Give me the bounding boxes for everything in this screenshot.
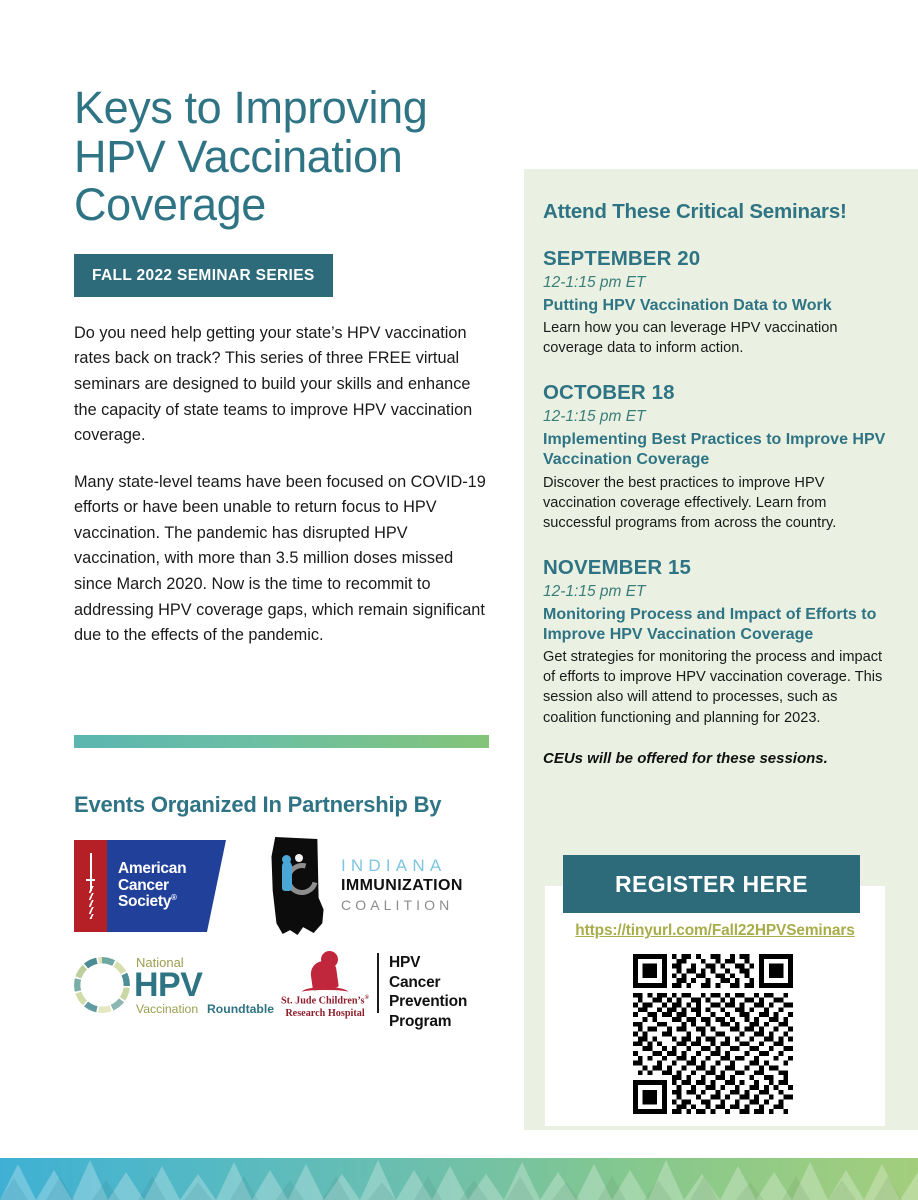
st-jude-line-2: Research Hospital [277,1008,373,1020]
seminar-date: OCTOBER 18 [543,381,889,405]
iic-wordmark: INDIANA IMMUNIZATION COALITION [341,855,463,914]
acs-wordmark: American Cancer Society® [118,861,186,911]
acs-line-3: Society [118,894,171,911]
iic-line-2: IMMUNIZATION [341,876,463,896]
program-line-2: Prevention [389,992,467,1012]
st-jude-registered-mark: ® [365,995,369,1001]
hpvrt-line-3: Vaccination [136,1002,198,1016]
st-jude-wordmark: St. Jude Children’s® Research Hospital [277,995,373,1020]
american-cancer-society-logo: American Cancer Society® [74,840,226,932]
hpv-cancer-prevention-wordmark: HPV Cancer Prevention Program [389,953,467,1031]
iic-line-3: COALITION [341,896,463,914]
seminar-date: NOVEMBER 15 [543,556,889,580]
st-jude-divider [377,953,379,1013]
acs-line-1: American [118,861,186,878]
series-badge: FALL 2022 SEMINAR SERIES [74,254,333,297]
acs-line-2: Cancer [118,878,186,895]
seminar-title: Putting HPV Vaccination Data to Work [543,296,889,316]
seminar-item-october: OCTOBER 18 12-1:15 pm ET Implementing Be… [543,381,889,533]
seminar-description: Get strategies for monitoring the proces… [543,647,889,728]
st-jude-line-1: St. Jude Children’s [281,995,365,1006]
st-jude-child-icon [305,951,345,993]
iic-figure-icon [282,861,292,891]
seminar-time: 12-1:15 pm ET [543,273,889,292]
intro-paragraph-1: Do you need help getting your state’s HP… [74,321,492,449]
flyer-page: Keys to Improving HPV Vaccination Covera… [0,0,918,1200]
iic-figure-head-icon [282,855,291,864]
iic-second-head-icon [295,854,303,862]
hpvrt-line-4: Roundtable [207,1002,274,1016]
register-url-link[interactable]: https://tinyurl.com/Fall22HPVSeminars [545,922,885,940]
iic-line-1: INDIANA [341,855,463,876]
indiana-immunization-coalition-logo: INDIANA IMMUNIZATION COALITION [269,837,459,935]
seminars-heading: Attend These Critical Seminars! [543,200,889,224]
program-line-3: Program [389,1012,467,1032]
seminar-description: Learn how you can leverage HPV vaccinati… [543,318,889,358]
qr-code[interactable] [633,954,793,1114]
national-hpv-roundtable-logo: National HPV Vaccination Roundtable [74,955,254,1017]
triangle-pattern-icon [0,1158,918,1200]
bottom-decorative-band [0,1158,918,1200]
gradient-divider [74,735,489,748]
hpvrt-line-2: HPV [134,966,202,1005]
seminar-item-november: NOVEMBER 15 12-1:15 pm ET Monitoring Pro… [543,556,889,728]
seminar-title: Implementing Best Practices to Improve H… [543,430,889,470]
intro-paragraph-2: Many state-level teams have been focused… [74,470,492,649]
acs-registered-mark: ® [171,893,177,902]
seminar-title: Monitoring Process and Impact of Efforts… [543,605,889,645]
acs-sword-icon [86,853,95,919]
seminars-panel-content: Attend These Critical Seminars! SEPTEMBE… [543,200,889,767]
ceu-note: CEUs will be offered for these sessions. [543,750,889,767]
partners-heading: Events Organized In Partnership By [74,792,441,818]
seminar-item-september: SEPTEMBER 20 12-1:15 pm ET Putting HPV V… [543,247,889,358]
st-jude-hpv-cancer-prevention-logo: St. Jude Children’s® Research Hospital H… [277,951,467,1021]
left-column: Keys to Improving HPV Vaccination Covera… [74,84,492,649]
seminar-time: 12-1:15 pm ET [543,582,889,601]
page-title: Keys to Improving HPV Vaccination Covera… [74,84,492,230]
register-button[interactable]: REGISTER HERE [563,855,860,913]
seminar-time: 12-1:15 pm ET [543,407,889,426]
program-line-1: HPV Cancer [389,953,467,992]
seminar-date: SEPTEMBER 20 [543,247,889,271]
seminar-description: Discover the best practices to improve H… [543,473,889,533]
segmented-ring-icon [74,957,130,1013]
